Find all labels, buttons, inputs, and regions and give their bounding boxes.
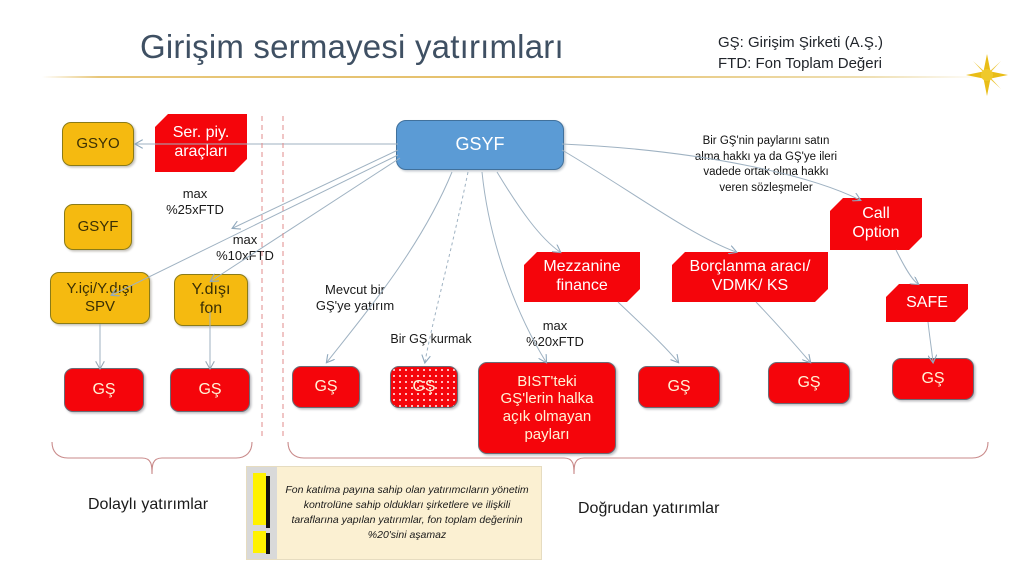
node-bist-paylari[interactable]: BIST'teki GŞ'lerin halka açık olmayan pa… xyxy=(478,362,616,454)
node-gs-6[interactable]: GŞ xyxy=(768,362,850,404)
callout-note: Fon katılma payına sahip olan yatırımcıl… xyxy=(246,466,542,560)
warning-exclamation-icon xyxy=(247,467,277,559)
node-mezzanine-finance[interactable]: Mezzanine finance xyxy=(524,252,640,302)
node-gs-1[interactable]: GŞ xyxy=(64,368,144,412)
node-gs-7[interactable]: GŞ xyxy=(892,358,974,400)
node-call-option[interactable]: Call Option xyxy=(830,198,922,250)
legend-line-gs: GŞ: Girişim Şirketi (A.Ş.) xyxy=(718,32,883,53)
node-gsyf-main[interactable]: GSYF xyxy=(396,120,564,170)
legend-abbreviations: GŞ: Girişim Şirketi (A.Ş.) FTD: Fon Topl… xyxy=(718,32,883,75)
bracket-label-dolayli: Dolaylı yatırımlar xyxy=(88,496,208,514)
node-gs-5[interactable]: GŞ xyxy=(638,366,720,408)
legend-line-ftd: FTD: Fon Toplam Değeri xyxy=(718,53,883,74)
node-gs-3[interactable]: GŞ xyxy=(292,366,360,408)
node-gsyo[interactable]: GSYO xyxy=(62,122,134,166)
edge-label-max-10: max %10xFTD xyxy=(200,232,290,265)
header-divider-rule xyxy=(42,76,986,78)
callout-note-text: Fon katılma payına sahip olan yatırımcıl… xyxy=(277,467,541,559)
node-ydisi-fon[interactable]: Y.dışı fon xyxy=(174,274,248,326)
node-ser-piy-araclari[interactable]: Ser. piy. araçları xyxy=(155,114,247,172)
node-safe[interactable]: SAFE xyxy=(886,284,968,322)
bracket-label-dogrudan: Doğrudan yatırımlar xyxy=(578,500,719,518)
sparkle-star-icon xyxy=(964,52,1010,98)
page-title: Girişim sermayesi yatırımları xyxy=(140,28,564,66)
node-gs-2[interactable]: GŞ xyxy=(170,368,250,412)
slide-canvas: Girişim sermayesi yatırımları GŞ: Girişi… xyxy=(0,0,1024,576)
node-gs-4-textured[interactable]: GŞ xyxy=(390,366,458,408)
node-borclanma-araci[interactable]: Borçlanma aracı/ VDMK/ KS xyxy=(672,252,828,302)
node-yici-ydisi-spv[interactable]: Y.içi/Y.dışı SPV xyxy=(50,272,150,324)
node-gsyf-left[interactable]: GSYF xyxy=(64,204,132,250)
edge-label-mevcut-gs: Mevcut bir GŞ'ye yatırım xyxy=(300,282,410,315)
edge-label-max-20: max %20xFTD xyxy=(516,318,594,351)
edge-label-bir-gs-kurmak: Bir GŞ kurmak xyxy=(376,332,486,348)
edge-label-max-25: max %25xFTD xyxy=(150,186,240,219)
annotation-sozlesmeler: Bir GŞ'nin paylarını satın alma hakkı ya… xyxy=(660,134,872,196)
